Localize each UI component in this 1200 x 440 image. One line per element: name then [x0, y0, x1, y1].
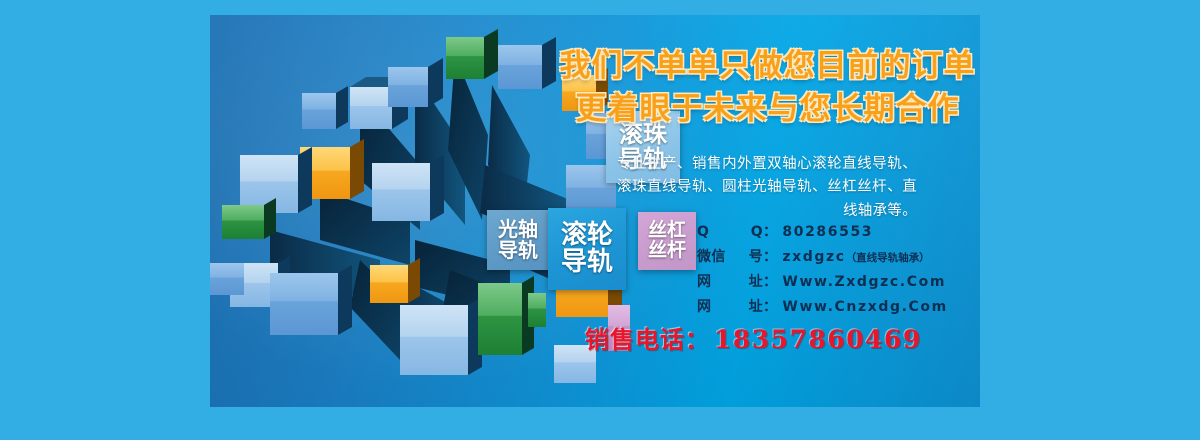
contact-label: 网 址 [697, 275, 763, 289]
sales-phone-label: 销售电话： [585, 320, 710, 355]
contact-colon: ： [763, 300, 777, 314]
contact-value-wechat: zxdgzc [782, 250, 845, 264]
contact-note-wechat: （直线导轨轴承） [846, 253, 930, 264]
contact-colon: ： [763, 275, 777, 289]
sales-phone-block: 销售电话： 18357860469 [585, 320, 922, 355]
contact-label: 网 址 [697, 300, 763, 314]
headline-block: 我们不单单只做您目前的订单 更着眼于未来与您长期合作 [555, 45, 980, 131]
headline-line-1: 我们不单单只做您目前的订单 [555, 45, 980, 88]
contact-value-website-1[interactable]: Www.Zxdgzc.Com [782, 275, 946, 289]
description-text: 专业生产、销售内外置双轴心滚轮直线导轨、滚珠直线导轨、圆柱光轴导轨、丝杠丝杆、直… [617, 153, 917, 223]
banner-text-column: 我们不单单只做您目前的订单 更着眼于未来与您长期合作 专业生产、销售内外置双轴心… [555, 15, 980, 407]
contact-row-website-2: 网 址 ： Www.Cnzxdg.Com [697, 300, 967, 314]
contact-value-website-2[interactable]: Www.Cnzxdg.Com [782, 300, 947, 314]
chip-line-2: 导轨 [498, 240, 538, 261]
banner-inner-panel: 滚珠 导轨 光轴 导轨 滚轮 导轨 丝杠 丝杆 我们不单单只做您目前的订单 更着… [210, 15, 980, 407]
product-chip-shaft-rail: 光轴 导轨 [487, 210, 549, 270]
sales-phone-number: 18357860469 [714, 325, 922, 354]
contact-row-qq: Q Q ： 80286553 [697, 225, 967, 239]
contact-colon: ： [763, 250, 777, 264]
chip-line-1: 光轴 [498, 219, 538, 240]
contact-colon: ： [763, 225, 777, 239]
contact-value-qq: 80286553 [782, 225, 873, 239]
contact-label: 微信 号 [697, 250, 763, 264]
contact-info-block: Q Q ： 80286553 微信 号 ： zxdgzc （直线导轨轴承） [697, 225, 967, 325]
headline-line-2: 更着眼于未来与您长期合作 [555, 88, 980, 131]
promo-banner: 滚珠 导轨 光轴 导轨 滚轮 导轨 丝杠 丝杆 我们不单单只做您目前的订单 更着… [0, 0, 1200, 440]
contact-row-website-1: 网 址 ： Www.Zxdgzc.Com [697, 275, 967, 289]
contact-row-wechat: 微信 号 ： zxdgzc （直线导轨轴承） [697, 250, 967, 264]
contact-label: Q Q [697, 225, 763, 239]
